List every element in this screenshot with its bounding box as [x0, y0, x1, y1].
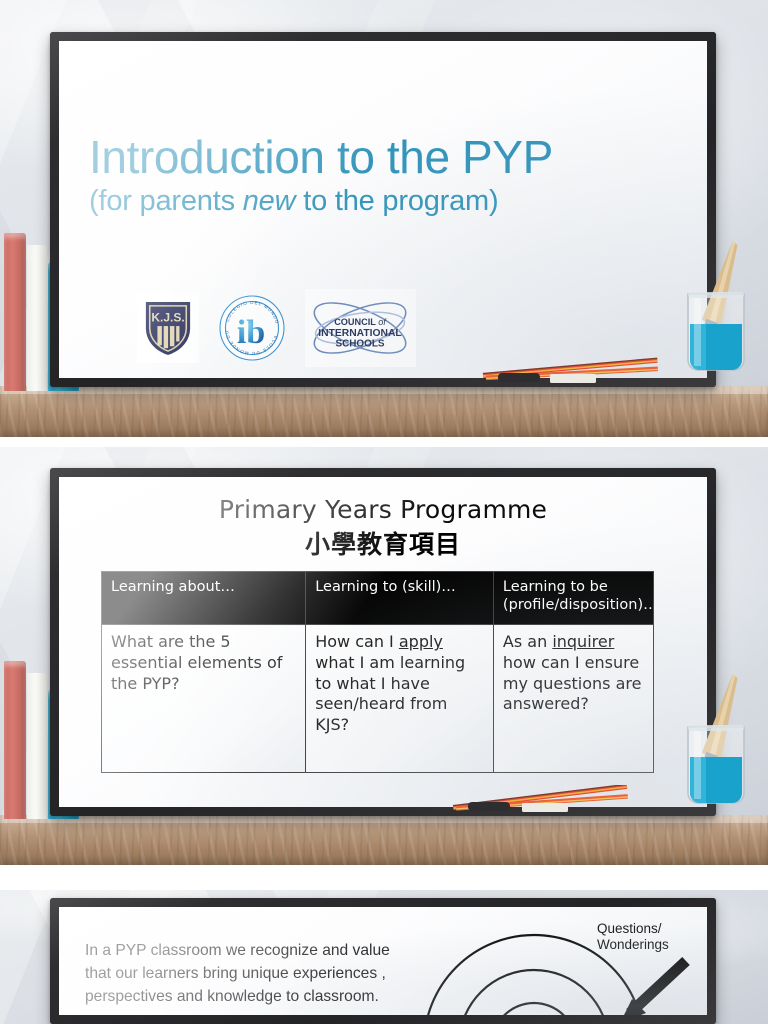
slide-3-canvas: In a PYP classroom we recognize and valu…	[59, 907, 707, 1015]
slide-2-title-en: Primary Years Programme	[59, 495, 707, 524]
whiteboard-slide-2[interactable]: Primary Years Programme 小學教育項目 Learning …	[50, 468, 716, 816]
slide-gap-2	[0, 865, 768, 890]
column-header-learning-about: Learning about…	[102, 572, 306, 625]
header-line-1: Learning to be	[503, 579, 608, 595]
svg-text:ib: ib	[237, 314, 265, 351]
slide-1-canvas: Introduction to the PYP (for parents new…	[59, 41, 707, 378]
arrow-to-center	[620, 961, 686, 1015]
slides-preview-page: Introduction to the PYP (for parents new…	[0, 0, 768, 1024]
page-title: Introduction to the PYP	[89, 133, 553, 183]
cell-learning-to-be: As an inquirer how can I ensure my quest…	[493, 625, 653, 773]
book-white	[27, 245, 47, 391]
slide-2-canvas: Primary Years Programme 小學教育項目 Learning …	[59, 477, 707, 807]
svg-text:INTERNATIONAL: INTERNATIONAL	[318, 328, 401, 339]
cell-text-before: How can I	[315, 632, 399, 651]
label-line-1: Questions/	[597, 921, 662, 936]
ib-world-school-icon: COLEGIO DEL MUNDO · WORLD SCHOOL ECOLE D…	[217, 293, 287, 363]
slide-2-title-zh: 小學教育項目	[59, 525, 707, 561]
svg-text:COUNCIL of: COUNCIL of	[334, 317, 387, 327]
slide-1-scene[interactable]: Introduction to the PYP (for parents new…	[0, 0, 768, 437]
glass-jar-with-brush	[676, 669, 756, 819]
slide-gap-1	[0, 437, 768, 447]
slide-2-scene[interactable]: Primary Years Programme 小學教育項目 Learning …	[0, 447, 768, 865]
table-row: What are the 5 essential elements of the…	[102, 625, 654, 773]
cell-text-after: how can I ensure my questions are answer…	[503, 653, 642, 713]
glass-jar-with-brush	[676, 236, 756, 386]
cell-learning-to-skill: How can I apply what I am learning to wh…	[306, 625, 494, 773]
questions-wonderings-label: Questions/ Wonderings	[597, 921, 689, 953]
book-white	[27, 673, 47, 819]
whiteboard-slide-1[interactable]: Introduction to the PYP (for parents new…	[50, 32, 716, 387]
subtitle-after: to the program)	[295, 185, 498, 217]
cell-underlined-inquirer: inquirer	[552, 632, 614, 651]
svg-text:K.J.S.: K.J.S.	[151, 310, 184, 324]
table-body: What are the 5 essential elements of the…	[102, 625, 654, 773]
cell-text-after: what I am learning to what I have seen/h…	[315, 653, 465, 734]
kjs-shield-icon: K.J.S.	[137, 293, 199, 363]
slide-1-subtitle: (for parents new to the program)	[89, 185, 553, 218]
wooden-shelf	[0, 386, 768, 437]
logo-row: K.J.S.	[137, 289, 416, 367]
book-red	[4, 661, 26, 819]
pencils-and-erasers	[478, 356, 668, 386]
slide-3-scene[interactable]: In a PYP classroom we recognize and valu…	[0, 890, 768, 1024]
slide-1-title-block: Introduction to the PYP (for parents new…	[89, 133, 553, 218]
whiteboard-slide-3[interactable]: In a PYP classroom we recognize and valu…	[50, 898, 716, 1024]
table-header: Learning about… Learning to (skill)… Lea…	[102, 572, 654, 625]
book-red	[4, 233, 26, 391]
label-line-2: Wonderings	[597, 937, 669, 952]
column-header-learning-to-skill: Learning to (skill)…	[306, 572, 494, 625]
cell-underlined-apply: apply	[399, 632, 443, 651]
cell-learning-about: What are the 5 essential elements of the…	[102, 625, 306, 773]
slide-3-body-text: In a PYP classroom we recognize and valu…	[85, 939, 405, 1008]
council-of-international-schools-icon: COUNCIL of INTERNATIONAL SCHOOLS	[305, 289, 416, 367]
header-line-2: (profile/disposition)…	[503, 597, 658, 613]
subtitle-before: (for parents	[89, 185, 243, 217]
table-header-row: Learning about… Learning to (skill)… Lea…	[102, 572, 654, 625]
svg-text:SCHOOLS: SCHOOLS	[335, 339, 384, 350]
pyp-learning-table: Learning about… Learning to (skill)… Lea…	[101, 571, 654, 773]
column-header-learning-to-be: Learning to be(profile/disposition)…	[493, 572, 653, 625]
pencils-and-erasers	[448, 785, 638, 815]
cell-text-before: As an	[503, 632, 552, 651]
wooden-shelf	[0, 815, 768, 865]
subtitle-italic-word: new	[243, 185, 296, 217]
